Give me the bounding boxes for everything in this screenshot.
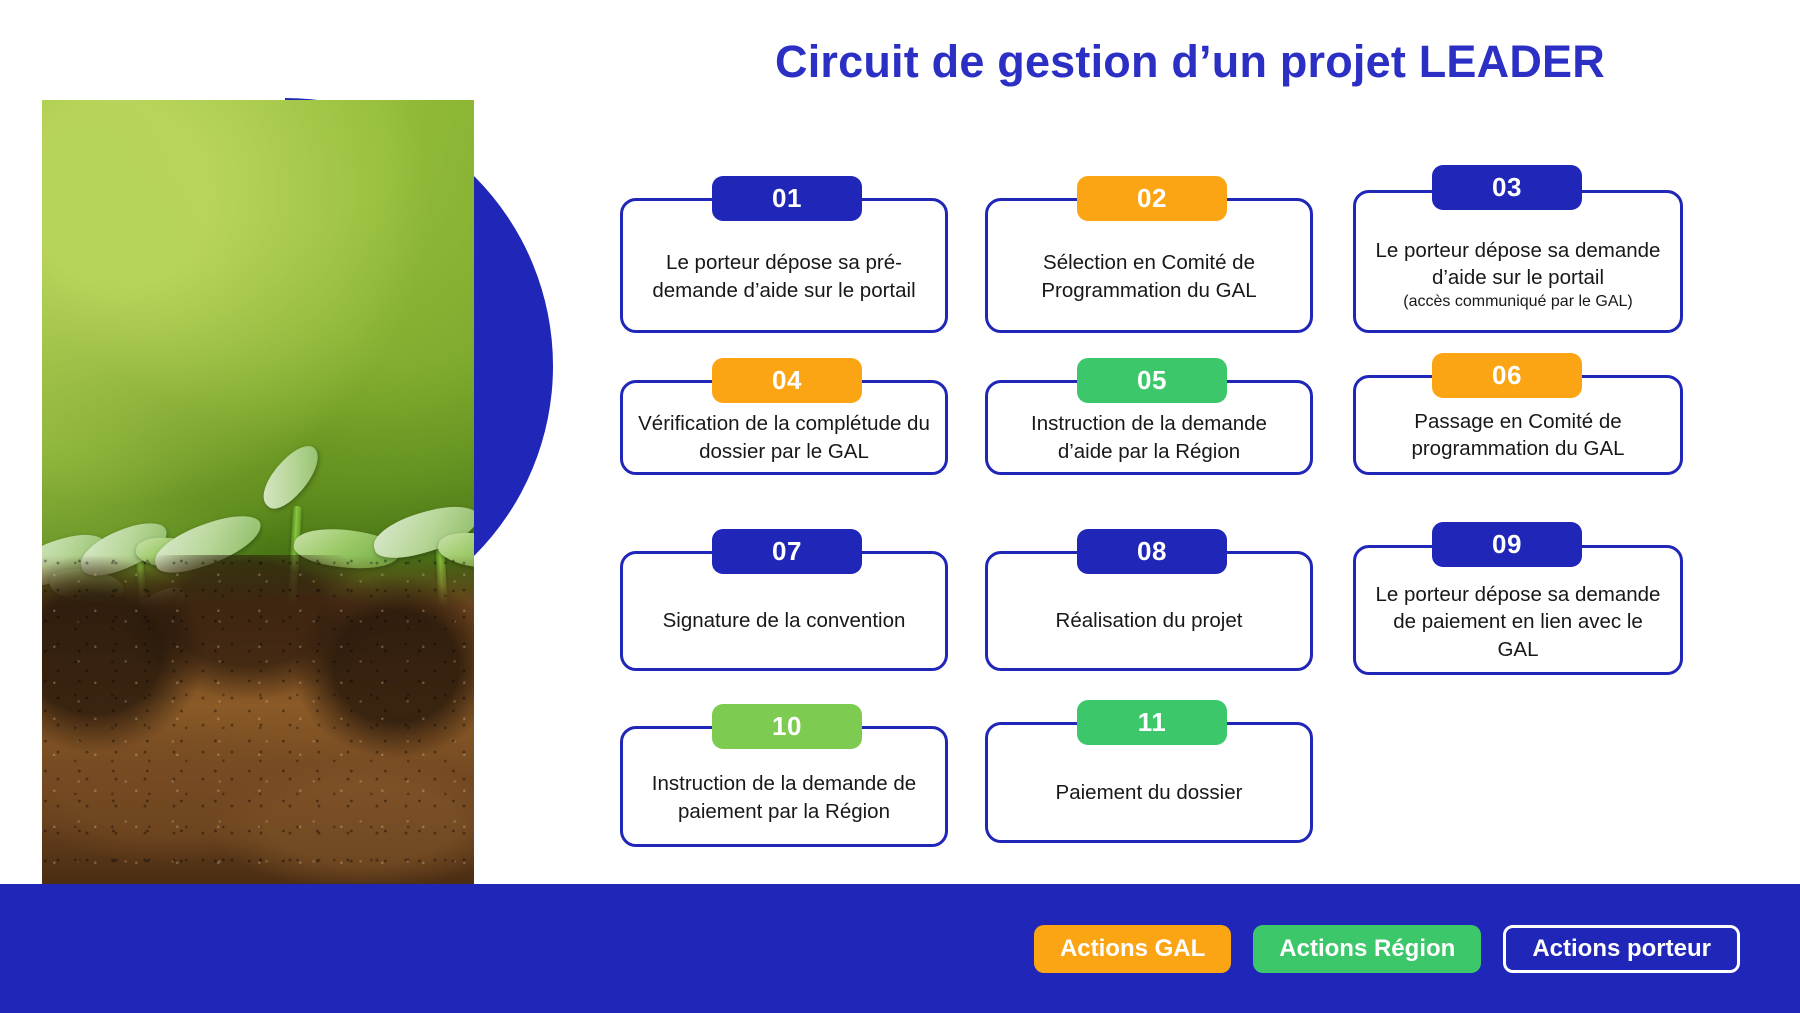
step-number-01: 01 — [772, 183, 802, 214]
step-text-06: Passage en Comité de programmation du GA… — [1356, 388, 1680, 463]
step-badge-08: 08 — [1077, 529, 1227, 574]
step-number-05: 05 — [1137, 365, 1167, 396]
step-badge-05: 05 — [1077, 358, 1227, 403]
step-card-05[interactable]: 05 Instruction de la demande d’aide par … — [985, 380, 1313, 475]
step-text-09: Le porteur dépose sa demande de paiement… — [1356, 557, 1680, 663]
step-text-11: Paiement du dossier — [988, 759, 1310, 806]
step-card-11[interactable]: 11 Paiement du dossier — [985, 722, 1313, 843]
step-text-08: Réalisation du projet — [988, 587, 1310, 634]
legend-actions-gal[interactable]: Actions GAL — [1034, 925, 1231, 973]
step-card-04[interactable]: 04 Vérification de la complétude du doss… — [620, 380, 948, 475]
step-card-01[interactable]: 01 Le porteur dépose sa pré-demande d’ai… — [620, 198, 948, 333]
legend-actions-region-label: Actions Région — [1279, 935, 1455, 963]
step-text-07: Signature de la convention — [623, 587, 945, 634]
step-number-11: 11 — [1138, 707, 1167, 738]
step-sublabel-03: (accès communiqué par le GAL) — [1370, 292, 1666, 312]
step-card-09[interactable]: 09 Le porteur dépose sa demande de paiem… — [1353, 545, 1683, 675]
step-label-08: Réalisation du projet — [1056, 609, 1243, 632]
step-badge-09: 09 — [1432, 522, 1582, 567]
step-number-04: 04 — [772, 365, 802, 396]
step-number-02: 02 — [1137, 183, 1167, 214]
step-label-10: Instruction de la demande de paiement pa… — [652, 772, 916, 822]
step-badge-10: 10 — [712, 704, 862, 749]
page-title: Circuit de gestion d’un projet LEADER — [600, 36, 1780, 88]
step-number-03: 03 — [1492, 172, 1522, 203]
step-number-09: 09 — [1492, 529, 1522, 560]
step-card-10[interactable]: 10 Instruction de la demande de paiement… — [620, 726, 948, 847]
step-number-06: 06 — [1492, 360, 1522, 391]
step-label-04: Vérification de la complétude du dossier… — [638, 412, 930, 462]
step-label-03: Le porteur dépose sa demande d’aide sur … — [1376, 239, 1661, 289]
step-card-07[interactable]: 07 Signature de la convention — [620, 551, 948, 671]
step-badge-07: 07 — [712, 529, 862, 574]
step-label-11: Paiement du dossier — [1056, 781, 1243, 804]
step-badge-11: 11 — [1077, 700, 1227, 745]
step-badge-02: 02 — [1077, 176, 1227, 221]
slide-canvas: Circuit de gestion d’un projet LEADER 01… — [0, 0, 1800, 1013]
step-number-08: 08 — [1137, 536, 1167, 567]
photo-soil-foreground — [42, 555, 474, 884]
coin-stacks-with-seedlings-photo — [42, 100, 474, 884]
step-card-02[interactable]: 02 Sélection en Comité de Programmation … — [985, 198, 1313, 333]
step-card-08[interactable]: 08 Réalisation du projet — [985, 551, 1313, 671]
legend-actions-porteur[interactable]: Actions porteur — [1503, 925, 1740, 973]
step-text-01: Le porteur dépose sa pré-demande d’aide … — [623, 227, 945, 304]
step-label-09: Le porteur dépose sa demande de paiement… — [1376, 583, 1661, 661]
step-badge-06: 06 — [1432, 353, 1582, 398]
step-badge-03: 03 — [1432, 165, 1582, 210]
step-number-10: 10 — [772, 711, 802, 742]
step-card-06[interactable]: 06 Passage en Comité de programmation du… — [1353, 375, 1683, 475]
legend-actions-gal-label: Actions GAL — [1060, 935, 1205, 963]
step-badge-04: 04 — [712, 358, 862, 403]
legend-actions-porteur-label: Actions porteur — [1532, 935, 1711, 963]
step-text-10: Instruction de la demande de paiement pa… — [623, 748, 945, 825]
step-card-03[interactable]: 03 Le porteur dépose sa demande d’aide s… — [1353, 190, 1683, 333]
step-badge-01: 01 — [712, 176, 862, 221]
step-label-05: Instruction de la demande d’aide par la … — [1031, 412, 1267, 462]
step-number-07: 07 — [772, 536, 802, 567]
step-text-03: Le porteur dépose sa demande d’aide sur … — [1356, 211, 1680, 313]
step-label-06: Passage en Comité de programmation du GA… — [1411, 410, 1624, 460]
step-label-02: Sélection en Comité de Programmation du … — [1041, 251, 1256, 301]
legend-bar: Actions GAL Actions Région Actions porte… — [0, 884, 1800, 1013]
step-text-02: Sélection en Comité de Programmation du … — [988, 227, 1310, 304]
step-label-01: Le porteur dépose sa pré-demande d’aide … — [652, 251, 915, 301]
step-label-07: Signature de la convention — [663, 609, 906, 632]
legend-actions-region[interactable]: Actions Région — [1253, 925, 1481, 973]
